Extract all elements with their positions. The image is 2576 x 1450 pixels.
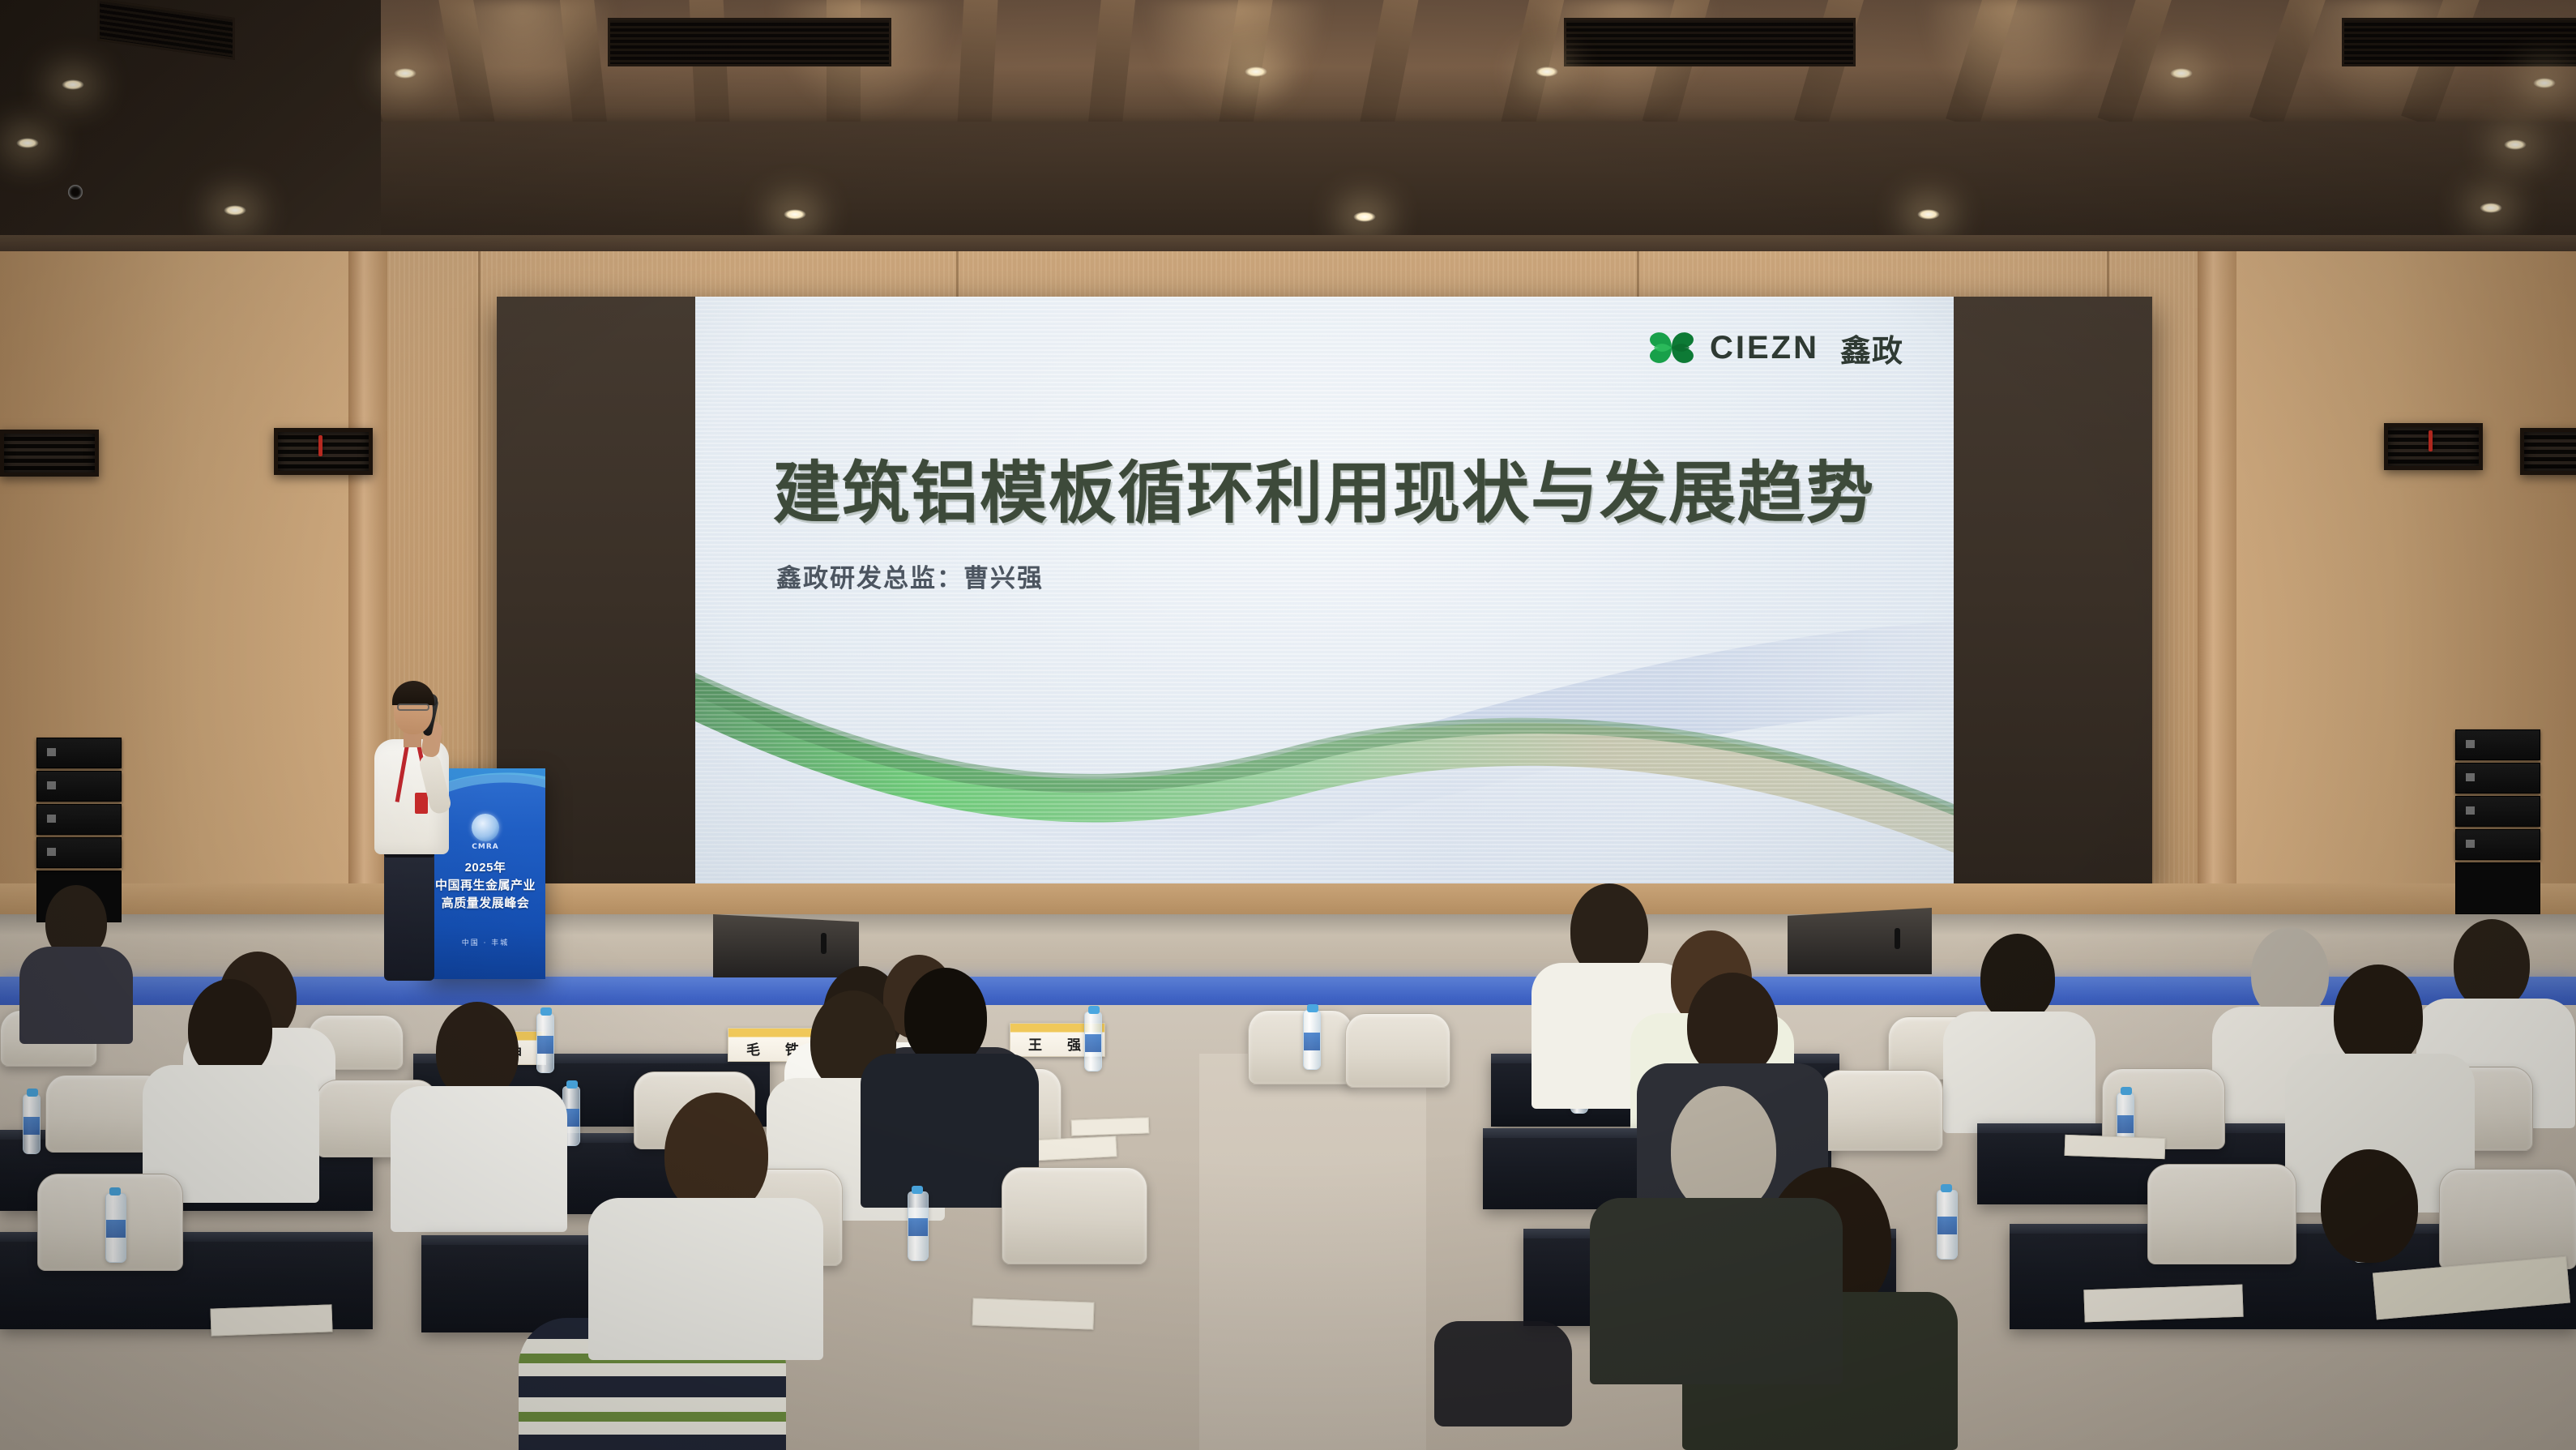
chair (1345, 1013, 1450, 1088)
ceiling-grille (2342, 18, 2576, 66)
slide-logo: CIEZN 鑫政 (1647, 323, 1903, 373)
line-array-speaker-right (2455, 729, 2540, 914)
stage-monitor-wedge-right (1788, 908, 1932, 974)
downlight (224, 205, 246, 216)
led-presentation-screen[interactable]: CIEZN 鑫政 建筑铝模板循环利用现状与发展趋势 鑫政研发总监：曹兴强 (695, 297, 1954, 888)
presenter-hair (392, 681, 434, 705)
notepad (210, 1304, 332, 1336)
downlight (784, 209, 806, 220)
glasses-icon (397, 704, 429, 711)
chair (2439, 1169, 2576, 1269)
logo-latin-text: CIEZN (1710, 330, 1819, 366)
downlight (2504, 139, 2527, 150)
downlight (2533, 78, 2556, 88)
downlight (394, 68, 417, 79)
conference-photo-scene: CIEZN 鑫政 建筑铝模板循环利用现状与发展趋势 鑫政研发总监：曹兴强 (0, 0, 2576, 1450)
ciezn-pinwheel-icon (1647, 323, 1697, 373)
downlight (1353, 212, 1376, 222)
stage-monitor-wedge-left (713, 914, 859, 977)
downlight (2480, 203, 2502, 213)
water-bottle (23, 1094, 41, 1154)
water-bottle (1084, 1012, 1102, 1071)
slide-subtitle: 鑫政研发总监：曹兴强 (776, 558, 1044, 594)
notepad (972, 1298, 1094, 1329)
water-bottle (1937, 1190, 1958, 1260)
chair (2147, 1164, 2296, 1264)
bag-on-floor (1434, 1321, 1572, 1426)
ceiling-fin-band (267, 0, 2576, 122)
wall-niche (274, 428, 373, 475)
chair (1248, 1010, 1353, 1084)
wall-cornice (0, 235, 2576, 253)
downlight (62, 79, 84, 90)
slide-title: 建筑铝模板循环利用现状与发展趋势 (773, 438, 1875, 536)
water-bottle (536, 1013, 554, 1073)
presenter-trousers (384, 853, 434, 981)
ceiling-grille (608, 18, 891, 66)
chair (1002, 1167, 1147, 1264)
downlight (2170, 68, 2193, 79)
chair (1820, 1070, 1943, 1151)
ceiling-sensor-icon (68, 185, 83, 199)
water-bottle (1303, 1010, 1321, 1070)
notepad (1071, 1117, 1150, 1136)
ceiling-grille (1564, 18, 1856, 66)
water-bottle (105, 1193, 126, 1263)
cmra-emblem-icon (472, 814, 499, 841)
wall-niche (2384, 423, 2483, 470)
cmra-emblem-label: CMRA (472, 843, 498, 851)
center-aisle (1199, 1054, 1426, 1450)
presenter (366, 665, 464, 981)
notepad (2083, 1285, 2243, 1323)
downlight (1245, 66, 1267, 77)
downlight (1917, 209, 1940, 220)
downlight (1536, 66, 1558, 77)
notepad (2065, 1135, 2166, 1159)
wall-niche (2520, 428, 2576, 475)
screen-bezel-right (1954, 297, 2152, 888)
slide-wave-graphic (695, 621, 1954, 888)
name-card-text: 王 强 (1028, 1033, 1087, 1056)
wall-niche (0, 430, 99, 477)
downlight (16, 138, 39, 148)
presenter-badge (415, 793, 428, 814)
water-bottle (908, 1191, 929, 1261)
logo-chinese-text: 鑫政 (1840, 326, 1903, 370)
